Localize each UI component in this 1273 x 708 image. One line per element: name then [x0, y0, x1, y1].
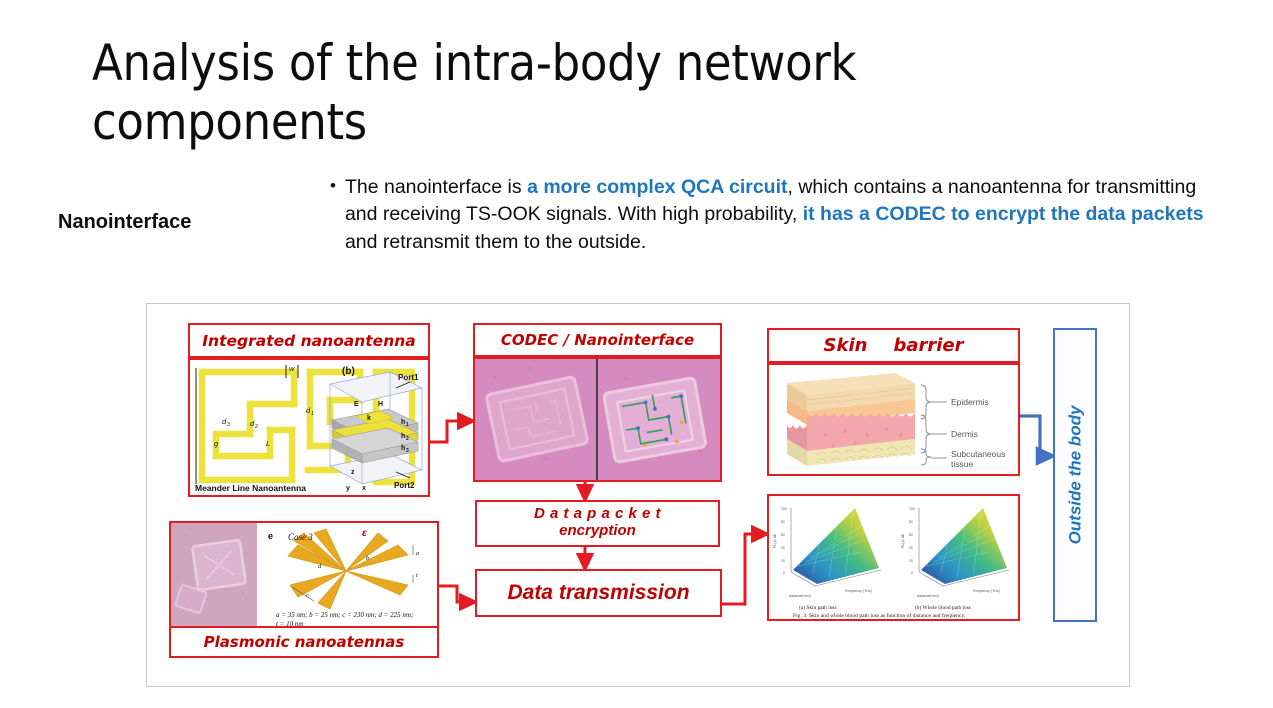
svg-text:h: h [401, 433, 405, 440]
data-transmission-label: Data transmission [507, 581, 689, 605]
encryption-line-1: D a t a p a c k e t [534, 506, 661, 523]
svg-text:2: 2 [406, 436, 409, 442]
svg-text:k: k [367, 415, 371, 422]
list-item: • The nanointerface is a more complex QC… [330, 174, 1220, 256]
case-label: Case 3 [288, 532, 313, 542]
slide-canvas: Analysis of the intra-body network compo… [0, 0, 1273, 708]
svg-text:3: 3 [406, 448, 409, 454]
svg-text:a: a [416, 550, 419, 557]
svg-text:PL(s) dB: PL(s) dB [773, 533, 777, 548]
svg-text:1: 1 [406, 422, 409, 428]
svg-text:E: E [354, 401, 359, 408]
svg-text:Frequency (THz): Frequency (THz) [973, 589, 1000, 593]
pathloss-figcaption: Fig. 3: Skin and whole blood path loss a… [793, 612, 966, 619]
data-transmission-box: Data transmission [475, 569, 722, 617]
svg-text:0: 0 [911, 571, 913, 575]
svg-text:80: 80 [781, 520, 785, 524]
port1-label: Port1 [398, 373, 419, 382]
bullet-seg-1: The nanointerface is [345, 176, 527, 198]
bullet-seg-3: and retransmit them to the outside. [345, 231, 646, 253]
diagram-container: Integrated nanoantenna [146, 303, 1130, 687]
plasmonic-header-label: Plasmonic nanoatennas [204, 633, 405, 651]
codec-panel [473, 357, 722, 482]
nanoantenna-header-label: Integrated nanoantenna [202, 332, 415, 350]
data-packet-encryption-box: D a t a p a c k e t encryption [475, 500, 720, 547]
bullet-list: • The nanointerface is a more complex QC… [330, 174, 1220, 256]
codec-microscopy-image [475, 359, 720, 480]
svg-text:2: 2 [254, 424, 258, 430]
nanoantenna-header: Integrated nanoantenna [188, 323, 430, 358]
skin-layers-panel: Epidermis Dermis Subcutaneous tissue [767, 363, 1020, 476]
svg-text:40: 40 [909, 546, 913, 550]
svg-text:y: y [346, 485, 350, 492]
plasmonic-sem-image [171, 523, 257, 628]
svg-text:80: 80 [909, 520, 913, 524]
bowtie-antenna-figure: e Case 3 ε db atc a = 35 nm; b = 25 nm; … [258, 523, 436, 628]
skin-cross-section-figure: Epidermis Dermis Subcutaneous tissue [769, 365, 1018, 474]
nanoantenna-panel: w d1 d3 d2 g L (b) [188, 358, 430, 497]
svg-text:distance(mm): distance(mm) [789, 594, 811, 598]
svg-text:x: x [362, 485, 366, 492]
svg-text:z: z [351, 469, 355, 476]
page-title: Analysis of the intra-body network compo… [92, 34, 992, 152]
svg-text:3: 3 [227, 422, 230, 428]
svg-text:h: h [401, 419, 405, 426]
svg-text:c: c [306, 592, 309, 599]
encryption-line-2: encryption [559, 522, 636, 541]
svg-text:40: 40 [781, 546, 785, 550]
skin-layer-label-epidermis: Epidermis [951, 397, 989, 407]
plasmonic-caption-1: a = 35 nm; b = 25 nm; c = 230 nm; d = 22… [276, 611, 413, 619]
port2-label: Port2 [394, 481, 415, 490]
svg-text:1: 1 [311, 411, 314, 417]
panel-e-label: e [268, 531, 273, 541]
bullet-marker: • [330, 174, 336, 198]
outside-the-body-label: Outside the body [1065, 406, 1085, 545]
pathloss-subcaption-a: (a) Skin path loss [799, 604, 837, 611]
bullet-text: The nanointerface is a more complex QCA … [345, 174, 1220, 256]
outside-the-body-box: Outside the body [1053, 328, 1097, 622]
svg-text:PL(s) dB: PL(s) dB [901, 533, 905, 548]
skin-layer-label-dermis: Dermis [951, 429, 978, 439]
epsilon-label: ε [362, 528, 367, 539]
svg-text:0: 0 [783, 571, 785, 575]
svg-text:tissue: tissue [951, 459, 973, 469]
nanoantenna-3d-stack: Port1 Port2 EHk h1 h2 h3 yxz [318, 362, 428, 494]
svg-text:H: H [378, 401, 383, 408]
path-loss-panel: 1008060 40200 PL(s) dB distance(mm) Freq… [767, 494, 1020, 621]
section-label-nanointerface: Nanointerface [58, 211, 191, 234]
skin-header-word-2: barrier [893, 335, 963, 356]
svg-text:100: 100 [909, 507, 915, 511]
codec-header: CODEC / Nanointerface [473, 323, 722, 357]
plasmonic-header: Plasmonic nanoatennas [169, 626, 439, 658]
bullet-highlight-1: a more complex QCA circuit [527, 176, 787, 198]
meander-caption: Meander Line Nanoantenna [195, 483, 306, 493]
svg-text:20: 20 [909, 559, 913, 563]
svg-text:distance(mm): distance(mm) [917, 594, 939, 598]
svg-text:60: 60 [781, 533, 785, 537]
svg-text:60: 60 [909, 533, 913, 537]
skin-header-word-1: Skin [824, 335, 868, 356]
skin-layer-label-subcutaneous: Subcutaneous [951, 449, 1005, 459]
svg-text:L: L [266, 439, 270, 448]
pathloss-subcaption-b: (b) Whole blood path loss [915, 604, 971, 611]
codec-header-label: CODEC / Nanointerface [501, 331, 694, 349]
bullet-highlight-2: it has a CODEC to encrypt the data packe… [803, 203, 1204, 225]
plasmonic-panel: e Case 3 ε db atc a = 35 nm; b = 25 nm; … [169, 521, 439, 631]
svg-text:w: w [289, 364, 295, 373]
svg-text:h: h [401, 445, 405, 452]
svg-text:t: t [416, 572, 418, 579]
svg-text:Frequency (THz): Frequency (THz) [845, 589, 872, 593]
path-loss-figures: 1008060 40200 PL(s) dB distance(mm) Freq… [769, 496, 1018, 619]
skin-barrier-header: Skin barrier [767, 328, 1020, 363]
svg-text:20: 20 [781, 559, 785, 563]
svg-text:100: 100 [781, 507, 787, 511]
